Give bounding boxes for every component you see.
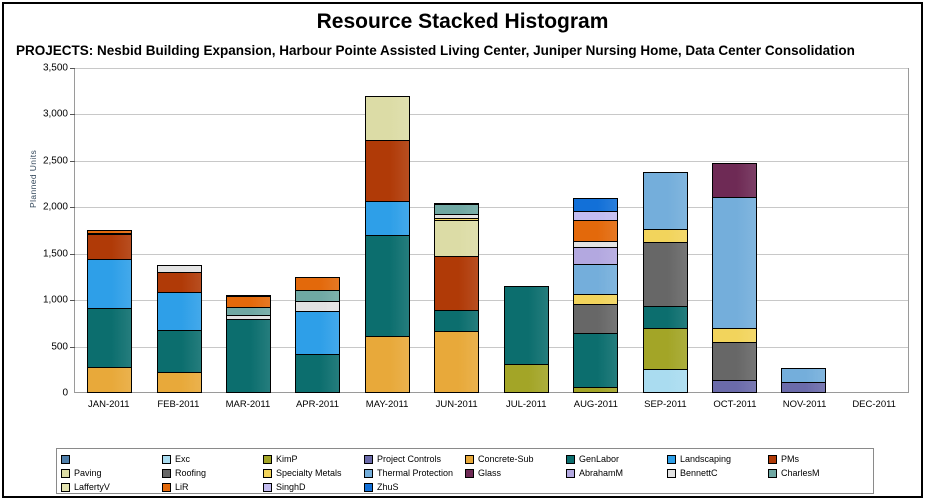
bar-segment[interactable]	[643, 306, 688, 329]
stacked-bar[interactable]	[781, 368, 826, 392]
bar-segment[interactable]	[87, 234, 132, 260]
legend-swatch-icon	[465, 469, 474, 478]
bar-segment[interactable]	[295, 354, 340, 393]
legend-label: Exc	[175, 454, 190, 464]
legend-label: LiR	[175, 482, 189, 492]
bar-series-container	[75, 69, 908, 392]
legend-label: AbrahamM	[579, 468, 623, 478]
bar-segment[interactable]	[295, 311, 340, 355]
bar-segment[interactable]	[157, 330, 202, 373]
chart-window: Resource Stacked Histogram PROJECTS: Nes…	[2, 2, 923, 498]
y-tick-label: 2,500	[43, 155, 68, 166]
legend-label: Thermal Protection	[377, 468, 453, 478]
plot-area: Planned Units 05001,0001,5002,0002,5003,…	[12, 68, 917, 416]
legend-item[interactable]: GenLabor	[566, 454, 667, 464]
legend-swatch-icon	[768, 455, 777, 464]
x-tick-label: APR-2011	[283, 394, 353, 410]
stacked-bar[interactable]	[434, 203, 479, 392]
bar-segment[interactable]	[226, 319, 271, 393]
x-axis-ticks: JAN-2011FEB-2011MAR-2011APR-2011MAY-2011…	[74, 394, 909, 410]
bar-segment[interactable]	[157, 372, 202, 393]
legend-item[interactable]: LaffertyV	[61, 482, 162, 492]
legend-row: PavingRoofingSpecialty MetalsThermal Pro…	[61, 466, 869, 480]
bar-segment[interactable]	[504, 364, 549, 393]
bar-segment[interactable]	[781, 382, 826, 393]
legend-swatch-icon	[566, 455, 575, 464]
legend-label: Roofing	[175, 468, 206, 478]
legend-item[interactable]: LiR	[162, 482, 263, 492]
bar-segment[interactable]	[365, 235, 410, 337]
bar-segment[interactable]	[573, 247, 618, 265]
bar-segment[interactable]	[504, 286, 549, 365]
bar-segment[interactable]	[157, 272, 202, 293]
legend-item[interactable]: CharlesM	[768, 468, 869, 478]
bar-column[interactable]	[769, 69, 838, 392]
y-tick-label: 3,500	[43, 63, 68, 74]
legend-item[interactable]	[61, 455, 162, 464]
legend-label: ZhuS	[377, 482, 399, 492]
x-tick-label: JAN-2011	[74, 394, 144, 410]
y-tick-label: 1,500	[43, 248, 68, 259]
x-tick-label: AUG-2011	[561, 394, 631, 410]
bar-segment[interactable]	[712, 380, 757, 393]
bar-segment[interactable]	[573, 333, 618, 389]
stacked-bar[interactable]	[504, 286, 549, 392]
x-tick-label: OCT-2011	[700, 394, 770, 410]
legend-swatch-icon	[667, 455, 676, 464]
bar-segment[interactable]	[643, 369, 688, 393]
bar-column[interactable]	[839, 69, 908, 392]
stacked-bar[interactable]	[157, 265, 202, 392]
legend-label: BennettC	[680, 468, 718, 478]
legend-swatch-icon	[162, 483, 171, 492]
legend-item[interactable]: PMs	[768, 454, 869, 464]
projects-subtitle: PROJECTS: Nesbid Building Expansion, Har…	[16, 42, 906, 59]
legend-label: Project Controls	[377, 454, 441, 464]
legend-swatch-icon	[162, 455, 171, 464]
legend-label: LaffertyV	[74, 482, 110, 492]
legend-swatch-icon	[61, 455, 70, 464]
legend-label: Paving	[74, 468, 102, 478]
legend-swatch-icon	[465, 455, 474, 464]
bar-segment[interactable]	[365, 336, 410, 393]
bar-segment[interactable]	[365, 201, 410, 236]
bar-segment[interactable]	[712, 328, 757, 343]
legend-item[interactable]: Concrete-Sub	[465, 454, 566, 464]
bar-segment[interactable]	[573, 387, 618, 393]
legend-item[interactable]: ZhuS	[364, 482, 465, 492]
legend-item[interactable]: Exc	[162, 454, 263, 464]
stacked-bar[interactable]	[365, 96, 410, 392]
bar-segment[interactable]	[434, 310, 479, 331]
bar-segment[interactable]	[712, 342, 757, 381]
bar-segment[interactable]	[781, 368, 826, 383]
bar-segment[interactable]	[295, 277, 340, 291]
y-tick-label: 2,000	[43, 202, 68, 213]
legend-item[interactable]: Specialty Metals	[263, 468, 364, 478]
bar-segment[interactable]	[573, 264, 618, 296]
legend-item[interactable]: BennettC	[667, 468, 768, 478]
stacked-bar[interactable]	[573, 198, 618, 392]
legend-label: Glass	[478, 468, 501, 478]
legend-swatch-icon	[768, 469, 777, 478]
page-title: Resource Stacked Histogram	[4, 10, 921, 34]
legend-item[interactable]: KimP	[263, 454, 364, 464]
bar-segment[interactable]	[573, 220, 618, 242]
bar-segment[interactable]	[157, 292, 202, 331]
bar-segment[interactable]	[434, 256, 479, 312]
stacked-bar[interactable]	[643, 172, 688, 392]
stacked-bar[interactable]	[295, 277, 340, 392]
legend-swatch-icon	[667, 469, 676, 478]
x-tick-label: JUL-2011	[491, 394, 561, 410]
legend-label: Landscaping	[680, 454, 731, 464]
bar-segment[interactable]	[87, 308, 132, 368]
legend-swatch-icon	[162, 469, 171, 478]
bar-column[interactable]	[561, 69, 630, 392]
bar-segment[interactable]	[643, 328, 688, 371]
bar-segment[interactable]	[643, 242, 688, 307]
bar-column[interactable]	[422, 69, 491, 392]
bar-column[interactable]	[353, 69, 422, 392]
x-tick-label: MAY-2011	[352, 394, 422, 410]
bar-segment[interactable]	[573, 304, 618, 334]
bar-segment[interactable]	[434, 220, 479, 257]
legend-row: LaffertyVLiRSinghDZhuS	[61, 480, 869, 494]
bar-column[interactable]	[492, 69, 561, 392]
y-tick-label: 500	[51, 341, 68, 352]
legend-swatch-icon	[263, 483, 272, 492]
legend-swatch-icon	[364, 483, 373, 492]
x-tick-label: SEP-2011	[631, 394, 701, 410]
legend-label: CharlesM	[781, 468, 820, 478]
y-axis-ticks: 05001,0001,5002,0002,5003,0003,500	[12, 68, 72, 393]
bar-segment[interactable]	[643, 172, 688, 230]
bar-column[interactable]	[75, 69, 144, 392]
x-tick-label: DEC-2011	[839, 394, 909, 410]
bar-segment[interactable]	[712, 197, 757, 329]
legend-item[interactable]: AbrahamM	[566, 468, 667, 478]
legend-label: GenLabor	[579, 454, 619, 464]
legend-item[interactable]: Project Controls	[364, 454, 465, 464]
plot-canvas	[74, 68, 909, 393]
legend-swatch-icon	[263, 455, 272, 464]
legend-swatch-icon	[61, 469, 70, 478]
x-tick-label: NOV-2011	[770, 394, 840, 410]
y-tick-label: 1,000	[43, 295, 68, 306]
legend-swatch-icon	[566, 469, 575, 478]
bar-segment[interactable]	[712, 163, 757, 198]
y-tick-label: 0	[62, 388, 68, 399]
legend-item[interactable]: Landscaping	[667, 454, 768, 464]
bar-column[interactable]	[283, 69, 352, 392]
bar-column[interactable]	[700, 69, 769, 392]
legend-swatch-icon	[364, 455, 373, 464]
legend-label: SinghD	[276, 482, 306, 492]
bar-segment[interactable]	[365, 140, 410, 202]
bar-segment[interactable]	[573, 198, 618, 212]
legend-swatch-icon	[61, 483, 70, 492]
legend-item[interactable]: Paving	[61, 468, 162, 478]
stacked-bar[interactable]	[226, 295, 271, 392]
bar-segment[interactable]	[434, 331, 479, 393]
legend-label: Concrete-Sub	[478, 454, 534, 464]
bar-column[interactable]	[214, 69, 283, 392]
x-tick-label: MAR-2011	[213, 394, 283, 410]
bar-segment[interactable]	[365, 96, 410, 141]
legend-item[interactable]: Thermal Protection	[364, 468, 465, 478]
bar-column[interactable]	[630, 69, 699, 392]
x-tick-label: JUN-2011	[422, 394, 492, 410]
x-tick-label: FEB-2011	[144, 394, 214, 410]
legend-row: ExcKimPProject ControlsConcrete-SubGenLa…	[61, 452, 869, 466]
legend-item[interactable]: SinghD	[263, 482, 364, 492]
legend-swatch-icon	[263, 469, 272, 478]
bar-segment[interactable]	[643, 229, 688, 243]
y-tick-label: 3,000	[43, 109, 68, 120]
bar-segment[interactable]	[87, 259, 132, 308]
legend-item[interactable]: Glass	[465, 468, 566, 478]
legend-item[interactable]: Roofing	[162, 468, 263, 478]
chart-legend: ExcKimPProject ControlsConcrete-SubGenLa…	[56, 448, 874, 494]
legend-label: Specialty Metals	[276, 468, 342, 478]
legend-label: KimP	[276, 454, 298, 464]
bar-column[interactable]	[144, 69, 213, 392]
legend-swatch-icon	[364, 469, 373, 478]
bar-segment[interactable]	[87, 367, 132, 393]
stacked-bar[interactable]	[712, 163, 757, 392]
legend-label: PMs	[781, 454, 799, 464]
stacked-bar[interactable]	[87, 230, 132, 392]
